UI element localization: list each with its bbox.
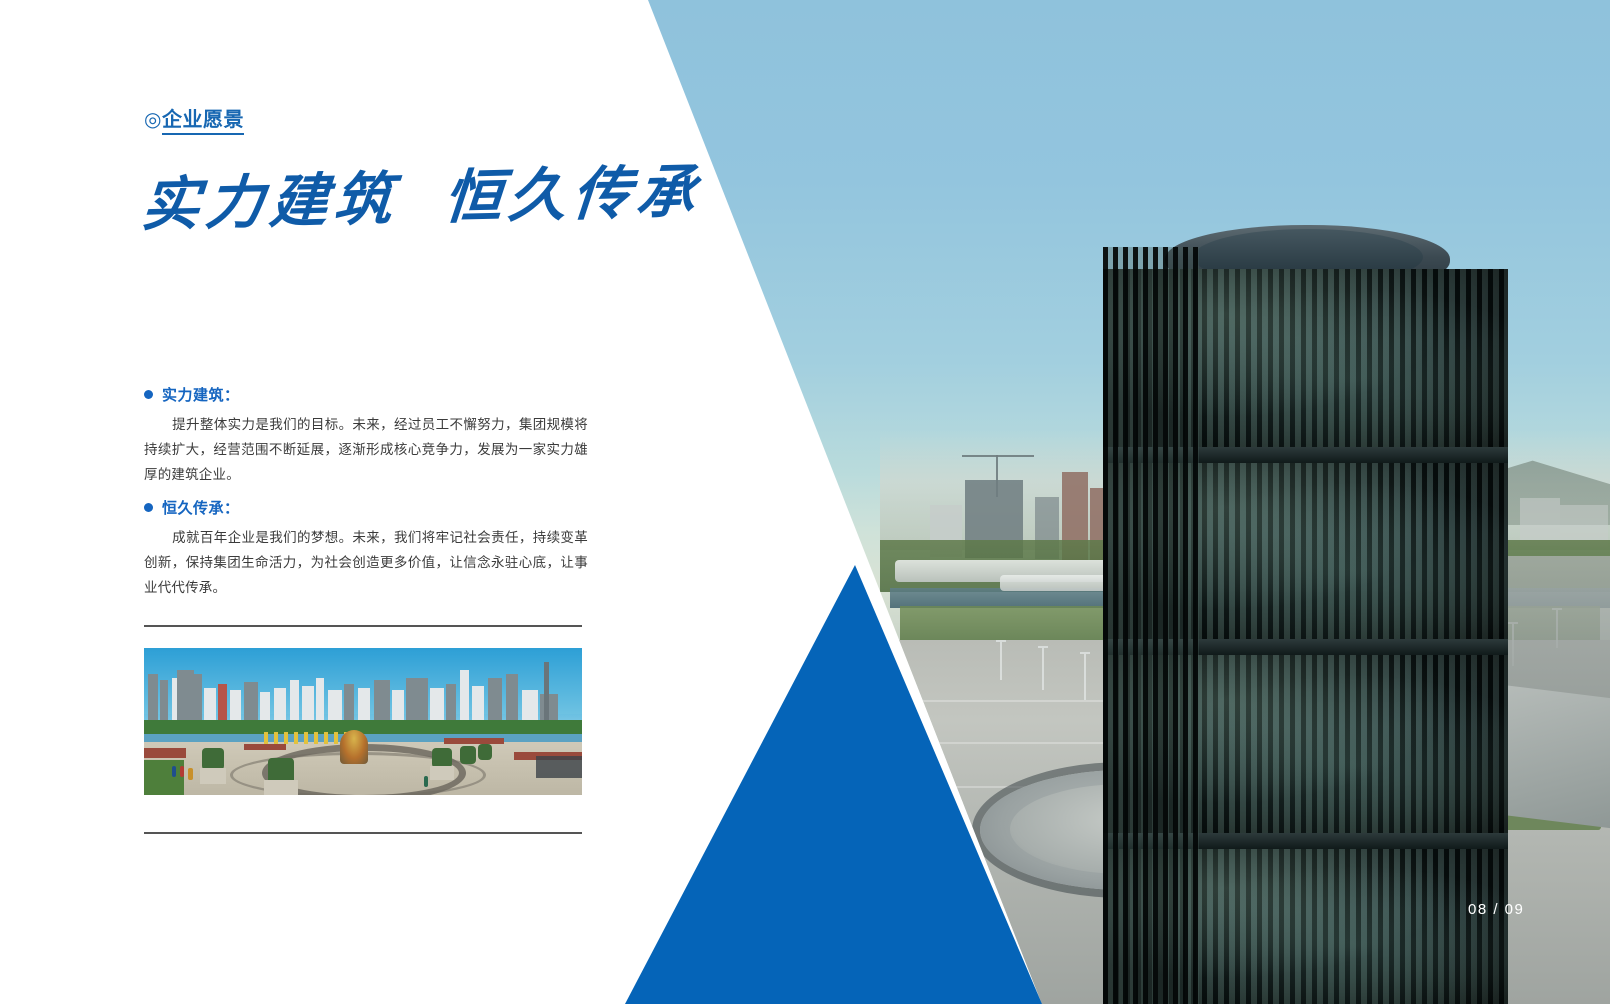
street-lamp <box>1042 646 1044 690</box>
page-title-right: 恒久传承 <box>442 157 704 231</box>
page-kicker: ◎企业愿景 <box>144 103 244 132</box>
bullet-icon <box>144 503 153 512</box>
divider-top <box>144 625 582 627</box>
section-body: 提升整体实力是我们的目标。未来，经过员工不懈努力，集团规模将持续扩大，经营范围不… <box>144 412 588 487</box>
thumbnail-planter <box>430 766 454 780</box>
tower-crane <box>962 455 1034 457</box>
section-heritage: 恒久传承： 成就百年企业是我们的梦想。未来，我们将牢记社会责任，持续变革创新，保… <box>144 497 588 600</box>
thumbnail-fountain <box>340 730 368 764</box>
section-heading: 恒久传承： <box>144 497 588 518</box>
bg-building <box>1520 498 1560 546</box>
bullet-icon <box>144 390 153 399</box>
thumbnail-hedge <box>460 746 476 764</box>
thumbnail-hedge <box>478 744 492 760</box>
section-strength: 实力建筑： 提升整体实力是我们的目标。未来，经过员工不懈努力，集团规模将持续扩大… <box>144 384 588 487</box>
page-number: 08 / 09 <box>1468 901 1524 918</box>
street-lamp <box>1084 652 1086 700</box>
thumbnail-photo <box>144 648 582 795</box>
brochure-page: ◎企业愿景 实力建筑恒久传承 实力建筑： 提升整体实力是我们的目标。未来，经过员… <box>0 0 1610 1004</box>
thumbnail-treeline <box>144 720 582 734</box>
thumbnail-planter <box>264 780 298 795</box>
thumbnail-hedge <box>432 748 452 768</box>
page-kicker-label: 企业愿景 <box>162 109 244 135</box>
section-heading-label: 实力建筑： <box>162 384 240 405</box>
thumbnail-planter <box>200 768 226 784</box>
page-title-left: 实力建筑 <box>139 165 401 239</box>
thumbnail-hedge <box>202 748 224 770</box>
section-body: 成就百年企业是我们的梦想。未来，我们将牢记社会责任，持续变革创新，保持集团生命活… <box>144 525 588 600</box>
divider-bottom <box>144 832 582 834</box>
section-heading: 实力建筑： <box>144 384 588 405</box>
thumbnail-person <box>180 766 184 777</box>
thumbnail-person <box>188 768 193 780</box>
tower-west-facade <box>1103 247 1199 1004</box>
office-tower <box>1103 247 1508 1004</box>
thumbnail-flowerbed <box>444 738 504 744</box>
page-title: 实力建筑恒久传承 <box>139 147 617 242</box>
tower-crane <box>996 455 998 497</box>
section-heading-label: 恒久传承： <box>162 497 240 518</box>
street-lamp <box>1000 640 1002 680</box>
section-body-text: 成就百年企业是我们的梦想。未来，我们将牢记社会责任，持续变革创新，保持集团生命活… <box>144 530 588 595</box>
thumbnail-antenna-mast <box>544 662 549 728</box>
section-body-text: 提升整体实力是我们的目标。未来，经过员工不懈努力，集团规模将持续扩大，经营范围不… <box>144 417 588 482</box>
thumbnail-flowerbed <box>244 744 286 750</box>
content-column: ◎企业愿景 实力建筑恒久传承 实力建筑： 提升整体实力是我们的目标。未来，经过员… <box>0 0 648 1004</box>
thumbnail-lawn <box>144 760 184 795</box>
thumbnail-stand <box>536 756 582 778</box>
thumbnail-person <box>172 766 176 777</box>
thumbnail-person <box>424 776 428 787</box>
ring-icon: ◎ <box>144 109 162 131</box>
thumbnail-flowerbed <box>144 748 186 758</box>
